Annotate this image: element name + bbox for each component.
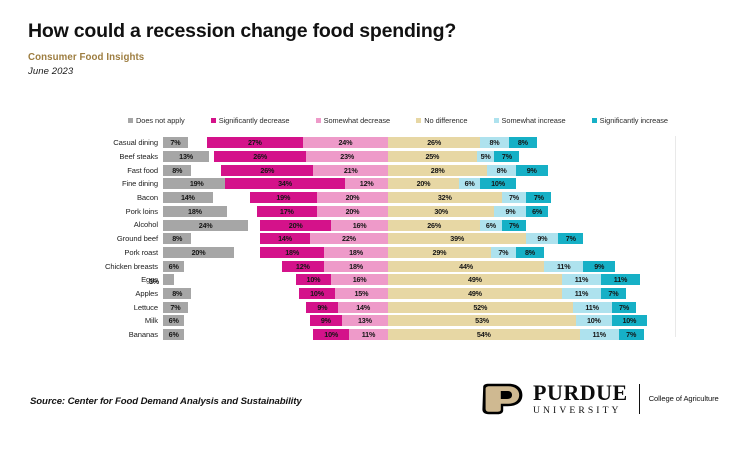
bar-stack[interactable]: 27%24%26%8%8%: [207, 137, 537, 148]
bar-segment-somewhat-decrease[interactable]: 20%: [317, 192, 388, 203]
bar-segment-no-difference[interactable]: 30%: [388, 206, 495, 217]
purdue-logo: PURDUE UNIVERSITY College of Agriculture: [480, 382, 719, 416]
bar-value-label: 15%: [354, 289, 368, 298]
purdue-wordmark: PURDUE UNIVERSITY: [533, 382, 628, 416]
bar-value-label: 18%: [285, 248, 299, 257]
bar-segment: 8%: [163, 233, 191, 244]
chart-row[interactable]: Beef steaks13%26%23%25%5%7%: [0, 150, 750, 164]
bar-segment-somewhat-decrease[interactable]: 20%: [317, 206, 388, 217]
bar-stack[interactable]: 20%16%26%6%7%: [260, 220, 526, 231]
bar-segment-somewhat-decrease[interactable]: 15%: [335, 288, 388, 299]
bar-value-label: 11%: [575, 289, 588, 298]
bar-segment-somewhat-decrease[interactable]: 11%: [349, 329, 388, 340]
bar-value-label: 10%: [324, 330, 338, 339]
bar-segment-somewhat-decrease[interactable]: 24%: [303, 137, 388, 148]
legend-item-0[interactable]: Does not apply: [128, 116, 185, 125]
bar-segment-significantly-increase[interactable]: 9%: [583, 261, 615, 272]
row-category-label: Lettuce: [0, 303, 158, 312]
bar-value-label: 8%: [172, 234, 182, 243]
bar-does-not-apply[interactable]: 18%: [163, 206, 227, 217]
bar-value-label: 7%: [509, 193, 519, 202]
bar-stack[interactable]: 26%21%28%8%9%: [221, 165, 548, 176]
chart-row[interactable]: Pork roast20%18%18%29%7%8%: [0, 246, 750, 260]
bar-value-label: 28%: [431, 166, 445, 175]
bar-segment-somewhat-increase[interactable]: 11%: [544, 261, 583, 272]
bar-does-not-apply[interactable]: 8%: [163, 165, 191, 176]
bar-segment: 6%: [163, 329, 184, 340]
bar-segment-somewhat-increase[interactable]: 10%: [576, 315, 612, 326]
bar-value-label: 9%: [537, 234, 547, 243]
page-title: How could a recession change food spendi…: [28, 20, 718, 43]
bar-value-label: 21%: [344, 166, 358, 175]
bar-segment-somewhat-decrease[interactable]: 22%: [310, 233, 388, 244]
legend-swatch-icon: [416, 118, 421, 123]
bar-value-label: 8%: [172, 289, 182, 298]
chart-row[interactable]: Lettuce7%9%14%52%11%7%: [0, 300, 750, 314]
bar-value-label: 7%: [566, 234, 576, 243]
bar-segment-significantly-increase[interactable]: 7%: [601, 288, 626, 299]
bar-value-label: 3%: [149, 276, 159, 287]
bar-segment-no-difference[interactable]: 25%: [388, 151, 477, 162]
row-category-label: Casual dining: [0, 138, 158, 147]
bar-value-label: 12%: [360, 179, 374, 188]
bar-segment-somewhat-decrease[interactable]: 23%: [306, 151, 388, 162]
chart-row[interactable]: Bacon14%19%20%32%7%7%: [0, 191, 750, 205]
bar-value-label: 26%: [260, 166, 274, 175]
bar-value-label: 10%: [307, 275, 321, 284]
bar-segment-no-difference[interactable]: 53%: [388, 315, 576, 326]
legend-item-2[interactable]: Somewhat decrease: [316, 116, 391, 125]
source-note: Source: Center for Food Demand Analysis …: [30, 396, 302, 407]
bar-segment-significantly-increase[interactable]: 7%: [526, 192, 551, 203]
bar-value-label: 20%: [346, 193, 360, 202]
bar-value-label: 23%: [340, 152, 354, 161]
bar-segment-significantly-increase[interactable]: 7%: [619, 329, 644, 340]
bar-segment-significantly-increase[interactable]: 10%: [612, 315, 648, 326]
bar-value-label: 30%: [434, 207, 448, 216]
bar-value-label: 54%: [477, 330, 491, 339]
bar-value-label: 6%: [169, 316, 179, 325]
bar-segment-significantly-decrease[interactable]: 17%: [257, 206, 317, 217]
chart-row[interactable]: Fast food8%26%21%28%8%9%: [0, 163, 750, 177]
bar-value-label: 11%: [575, 275, 588, 284]
bar-segment-significantly-increase[interactable]: 6%: [526, 206, 547, 217]
row-category-label: Bananas: [0, 330, 158, 339]
bar-segment-no-difference[interactable]: 29%: [388, 247, 491, 258]
bar-value-label: 10%: [622, 316, 636, 325]
purdue-university-name: UNIVERSITY: [533, 406, 628, 416]
bar-segment-significantly-decrease[interactable]: 26%: [221, 165, 313, 176]
bar-value-label: 11%: [557, 262, 570, 271]
bar-value-label: 8%: [497, 166, 507, 175]
bar-segment-no-difference[interactable]: 49%: [388, 288, 562, 299]
bar-value-label: 9%: [321, 316, 331, 325]
bar-does-not-apply[interactable]: 8%: [163, 233, 191, 244]
legend-item-label: Significantly decrease: [219, 116, 290, 125]
bar-segment: 6%: [163, 315, 184, 326]
bar-segment: 7%: [163, 137, 188, 148]
row-category-label: Pork loins: [0, 207, 158, 216]
bar-value-label: 5%: [481, 152, 491, 161]
bar-segment-somewhat-increase[interactable]: 8%: [487, 165, 515, 176]
bar-does-not-apply[interactable]: 6%: [163, 261, 184, 272]
bar-value-label: 6%: [486, 221, 496, 230]
bar-segment-significantly-decrease[interactable]: 34%: [225, 178, 346, 189]
row-category-label: Fast food: [0, 166, 158, 175]
bar-stack[interactable]: 10%11%54%11%7%: [313, 329, 643, 340]
bar-value-label: 8%: [525, 248, 535, 257]
bar-stack[interactable]: 10%15%49%11%7%: [299, 288, 626, 299]
bar-value-label: 20%: [289, 221, 303, 230]
bar-segment-somewhat-increase[interactable]: 9%: [494, 206, 526, 217]
chart-row[interactable]: Alcohol24%20%16%26%6%7%: [0, 218, 750, 232]
bar-does-not-apply[interactable]: 20%: [163, 247, 234, 258]
bar-value-label: 26%: [427, 221, 441, 230]
bar-segment-no-difference[interactable]: 44%: [388, 261, 544, 272]
bar-value-label: 14%: [356, 303, 370, 312]
bar-segment-no-difference[interactable]: 49%: [388, 274, 562, 285]
bar-value-label: 6%: [169, 330, 179, 339]
bar-segment-somewhat-decrease[interactable]: 18%: [324, 247, 388, 258]
row-category-label: Pork roast: [0, 248, 158, 257]
bar-segment: 8%: [163, 165, 191, 176]
bar-value-label: 25%: [425, 152, 439, 161]
bar-segment-no-difference[interactable]: 32%: [388, 192, 502, 203]
bar-value-label: 13%: [358, 316, 372, 325]
bar-segment-significantly-decrease[interactable]: 20%: [260, 220, 331, 231]
chart-row[interactable]: Bananas6%10%11%54%11%7%: [0, 328, 750, 342]
chart-row[interactable]: Milk6%9%13%53%10%10%: [0, 314, 750, 328]
bar-segment-significantly-decrease[interactable]: 12%: [282, 261, 325, 272]
bar-does-not-apply[interactable]: 14%: [163, 192, 213, 203]
legend-item-1[interactable]: Significantly decrease: [211, 116, 290, 125]
bar-segment-no-difference[interactable]: 28%: [388, 165, 487, 176]
bar-does-not-apply[interactable]: 3%: [163, 274, 174, 285]
bar-segment-significantly-decrease[interactable]: 9%: [306, 302, 338, 313]
bar-value-label: 26%: [427, 138, 441, 147]
bar-segment: [163, 274, 174, 285]
bar-stack[interactable]: 19%20%32%7%7%: [250, 192, 552, 203]
chart-row[interactable]: Casual dining7%27%24%26%8%8%: [0, 136, 750, 150]
bar-segment: 6%: [163, 261, 184, 272]
bar-stack[interactable]: 17%20%30%9%6%: [257, 206, 548, 217]
bar-value-label: 8%: [172, 166, 182, 175]
bar-segment-significantly-increase[interactable]: 9%: [516, 165, 548, 176]
bar-value-label: 44%: [459, 262, 473, 271]
bar-value-label: 13%: [179, 152, 193, 161]
bar-stack[interactable]: 12%18%44%11%9%: [282, 261, 616, 272]
bar-segment-somewhat-increase[interactable]: 6%: [480, 220, 501, 231]
bar-value-label: 9%: [505, 207, 515, 216]
bar-segment-somewhat-increase[interactable]: 6%: [459, 178, 480, 189]
bar-segment-somewhat-increase[interactable]: 11%: [562, 274, 601, 285]
bar-value-label: 26%: [253, 152, 267, 161]
chart-row[interactable]: Fine dining19%34%12%20%6%10%: [0, 177, 750, 191]
bar-value-label: 32%: [438, 193, 452, 202]
bar-segment-significantly-increase[interactable]: 7%: [612, 302, 637, 313]
bar-segment-no-difference[interactable]: 54%: [388, 329, 580, 340]
bar-value-label: 11%: [585, 303, 598, 312]
bar-value-label: 7%: [498, 248, 508, 257]
bar-segment-significantly-increase[interactable]: 11%: [601, 274, 640, 285]
bar-value-label: 20%: [192, 248, 206, 257]
report-series-label: Consumer Food Insights: [28, 52, 718, 63]
bar-value-label: 49%: [468, 275, 482, 284]
bar-segment: 19%: [163, 178, 230, 189]
bar-segment: 13%: [163, 151, 209, 162]
legend-swatch-icon: [494, 118, 499, 123]
bar-value-label: 22%: [342, 234, 356, 243]
bar-segment: 24%: [163, 220, 248, 231]
legend-item-label: Significantly increase: [600, 116, 668, 125]
bar-segment-significantly-increase[interactable]: 7%: [558, 233, 583, 244]
bar-segment-somewhat-decrease[interactable]: 13%: [342, 315, 388, 326]
legend-item-3[interactable]: No difference: [416, 116, 467, 125]
bar-value-label: 16%: [353, 275, 367, 284]
bar-value-label: 49%: [468, 289, 482, 298]
bar-value-label: 18%: [349, 262, 363, 271]
bar-segment-somewhat-decrease[interactable]: 16%: [331, 220, 388, 231]
bar-segment-somewhat-increase[interactable]: 11%: [573, 302, 612, 313]
bar-value-label: 10%: [310, 289, 324, 298]
bar-value-label: 53%: [475, 316, 489, 325]
bar-does-not-apply[interactable]: 24%: [163, 220, 248, 231]
bar-value-label: 11%: [362, 330, 375, 339]
chart-row[interactable]: Eggs3%10%16%49%11%11%: [0, 273, 750, 287]
bar-value-label: 14%: [278, 234, 292, 243]
bar-segment: 18%: [163, 206, 227, 217]
legend-swatch-icon: [211, 118, 216, 123]
legend-swatch-icon: [128, 118, 133, 123]
bar-value-label: 20%: [417, 179, 431, 188]
chart-row[interactable]: Chicken breasts6%12%18%44%11%9%: [0, 259, 750, 273]
bar-does-not-apply[interactable]: 7%: [163, 302, 188, 313]
bar-segment-significantly-decrease[interactable]: 10%: [299, 288, 335, 299]
bar-segment-significantly-decrease[interactable]: 19%: [250, 192, 317, 203]
bar-segment-somewhat-increase[interactable]: 7%: [491, 247, 516, 258]
bar-segment-significantly-increase[interactable]: 7%: [494, 151, 519, 162]
row-category-label: Ground beef: [0, 234, 158, 243]
bar-segment: 14%: [163, 192, 213, 203]
bar-value-label: 14%: [181, 193, 195, 202]
bar-segment-no-difference[interactable]: 20%: [388, 178, 459, 189]
bar-value-label: 7%: [170, 138, 180, 147]
bar-value-label: 9%: [594, 262, 604, 271]
bar-segment-somewhat-increase[interactable]: 5%: [477, 151, 495, 162]
bar-value-label: 11%: [614, 275, 627, 284]
row-category-label: Alcohol: [0, 220, 158, 229]
bar-segment-significantly-increase[interactable]: 8%: [516, 247, 544, 258]
bar-segment-somewhat-decrease[interactable]: 16%: [331, 274, 388, 285]
bar-stack[interactable]: 14%22%39%9%7%: [260, 233, 583, 244]
bar-segment-somewhat-increase[interactable]: 11%: [562, 288, 601, 299]
bar-segment-somewhat-increase[interactable]: 11%: [580, 329, 619, 340]
bar-segment-no-difference[interactable]: 52%: [388, 302, 573, 313]
bar-stack[interactable]: 9%14%52%11%7%: [306, 302, 636, 313]
bar-value-label: 18%: [188, 207, 202, 216]
row-category-label: Beef steaks: [0, 152, 158, 161]
bar-value-label: 19%: [190, 179, 204, 188]
purdue-p-icon: [480, 383, 524, 415]
bar-segment-somewhat-decrease[interactable]: 18%: [324, 261, 388, 272]
slide-header: How could a recession change food spendi…: [28, 20, 718, 77]
bar-stack[interactable]: 10%16%49%11%11%: [296, 274, 640, 285]
bar-value-label: 9%: [317, 303, 327, 312]
bar-segment-no-difference[interactable]: 26%: [388, 137, 480, 148]
row-category-label: Bacon: [0, 193, 158, 202]
bar-stack[interactable]: 9%13%53%10%10%: [310, 315, 647, 326]
bar-segment-somewhat-increase[interactable]: 8%: [480, 137, 508, 148]
bar-segment-no-difference[interactable]: 39%: [388, 233, 526, 244]
purdue-name: PURDUE: [533, 382, 628, 404]
legend-item-label: No difference: [424, 116, 467, 125]
bar-segment-significantly-decrease[interactable]: 10%: [296, 274, 332, 285]
bar-value-label: 16%: [353, 221, 367, 230]
bar-value-label: 39%: [450, 234, 464, 243]
bar-value-label: 9%: [527, 166, 537, 175]
bar-does-not-apply[interactable]: 8%: [163, 288, 191, 299]
row-category-label: Chicken breasts: [0, 262, 158, 271]
bar-value-label: 24%: [338, 138, 352, 147]
bar-segment-significantly-decrease[interactable]: 9%: [310, 315, 342, 326]
bar-value-label: 34%: [278, 179, 292, 188]
bar-value-label: 8%: [518, 138, 528, 147]
bar-segment-significantly-decrease[interactable]: 27%: [207, 137, 303, 148]
bar-value-label: 11%: [593, 330, 606, 339]
bar-value-label: 10%: [587, 316, 601, 325]
bar-stack[interactable]: 34%12%20%6%10%: [225, 178, 516, 189]
legend-item-4[interactable]: Somewhat increase: [494, 116, 566, 125]
bar-value-label: 18%: [349, 248, 363, 257]
row-category-label: Eggs: [0, 275, 158, 284]
legend-item-label: Somewhat increase: [502, 116, 566, 125]
chart-rows: Casual dining7%27%24%26%8%8%Beef steaks1…: [0, 136, 750, 341]
legend-swatch-icon: [316, 118, 321, 123]
bar-does-not-apply[interactable]: 13%: [163, 151, 209, 162]
bar-segment: 20%: [163, 247, 234, 258]
bar-value-label: 20%: [346, 207, 360, 216]
chart-row[interactable]: Pork loins18%17%20%30%9%6%: [0, 204, 750, 218]
logo-divider: [639, 384, 640, 414]
bar-does-not-apply[interactable]: 7%: [163, 137, 188, 148]
bar-value-label: 52%: [473, 303, 487, 312]
bar-value-label: 12%: [296, 262, 310, 271]
bar-segment-somewhat-increase[interactable]: 9%: [526, 233, 558, 244]
bar-segment: 7%: [163, 302, 188, 313]
bar-value-label: 7%: [170, 303, 180, 312]
bar-segment-significantly-decrease[interactable]: 10%: [313, 329, 349, 340]
bar-value-label: 7%: [534, 193, 544, 202]
bar-value-label: 29%: [433, 248, 447, 257]
bar-segment-significantly-increase[interactable]: 10%: [480, 178, 516, 189]
report-date: June 2023: [28, 66, 718, 77]
bar-segment-somewhat-decrease[interactable]: 12%: [345, 178, 388, 189]
chart-plot-area: Casual dining7%27%24%26%8%8%Beef steaks1…: [0, 136, 750, 341]
bar-segment-significantly-increase[interactable]: 8%: [509, 137, 537, 148]
bar-does-not-apply[interactable]: 6%: [163, 315, 184, 326]
bar-stack[interactable]: 26%23%25%5%7%: [214, 151, 519, 162]
bar-value-label: 8%: [489, 138, 499, 147]
bar-value-label: 27%: [248, 138, 262, 147]
row-category-label: Apples: [0, 289, 158, 298]
bar-segment-significantly-increase[interactable]: 7%: [502, 220, 527, 231]
legend-swatch-icon: [592, 118, 597, 123]
bar-segment: 8%: [163, 288, 191, 299]
college-name: College of Agriculture: [649, 394, 719, 403]
legend-item-label: Somewhat decrease: [324, 116, 391, 125]
bar-does-not-apply[interactable]: 6%: [163, 329, 184, 340]
bar-value-label: 6%: [465, 179, 475, 188]
row-category-label: Milk: [0, 316, 158, 325]
bar-stack[interactable]: 18%18%29%7%8%: [260, 247, 544, 258]
bar-value-label: 7%: [619, 303, 629, 312]
bar-value-label: 6%: [532, 207, 542, 216]
legend-item-label: Does not apply: [136, 116, 185, 125]
bar-does-not-apply[interactable]: 19%: [163, 178, 230, 189]
bar-value-label: 7%: [502, 152, 512, 161]
bar-segment-somewhat-decrease[interactable]: 21%: [313, 165, 388, 176]
chart-row[interactable]: Ground beef8%14%22%39%9%7%: [0, 232, 750, 246]
bar-value-label: 10%: [491, 179, 505, 188]
chart-row[interactable]: Apples8%10%15%49%11%7%: [0, 287, 750, 301]
slide-canvas: How could a recession change food spendi…: [0, 0, 750, 450]
legend-item-5[interactable]: Significantly increase: [592, 116, 668, 125]
bar-segment-somewhat-increase[interactable]: 7%: [502, 192, 527, 203]
bar-value-label: 7%: [626, 330, 636, 339]
bar-value-label: 7%: [608, 289, 618, 298]
bar-value-label: 19%: [276, 193, 290, 202]
bar-segment-no-difference[interactable]: 26%: [388, 220, 480, 231]
chart-legend: Does not applySignificantly decreaseSome…: [128, 116, 668, 125]
bar-segment-significantly-decrease[interactable]: 26%: [214, 151, 306, 162]
bar-segment-somewhat-decrease[interactable]: 14%: [338, 302, 388, 313]
row-category-label: Fine dining: [0, 179, 158, 188]
bar-value-label: 24%: [199, 221, 213, 230]
bar-segment-significantly-decrease[interactable]: 14%: [260, 233, 310, 244]
bar-value-label: 17%: [280, 207, 294, 216]
bar-value-label: 6%: [169, 262, 179, 271]
bar-value-label: 7%: [509, 221, 519, 230]
bar-segment-significantly-decrease[interactable]: 18%: [260, 247, 324, 258]
